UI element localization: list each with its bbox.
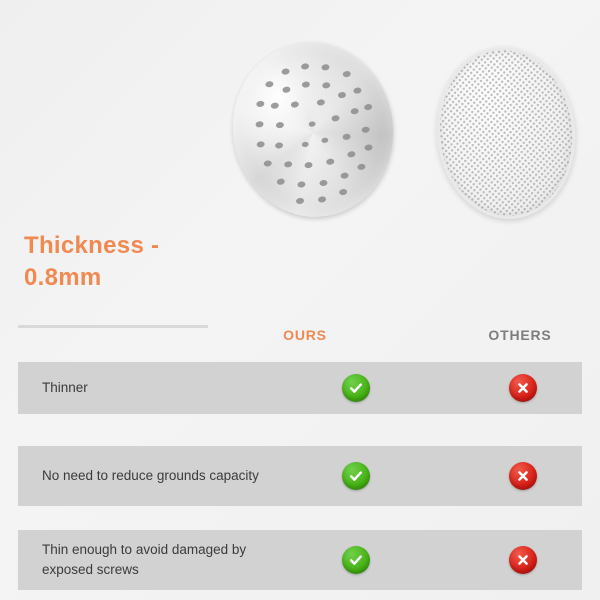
cross-icon [509, 546, 537, 574]
row-label: Thin enough to avoid damaged by exposed … [18, 540, 272, 581]
table-row: No need to reduce grounds capacity [18, 446, 582, 506]
check-icon [342, 374, 370, 402]
headline-line-2: 0.8mm [24, 262, 284, 294]
row-cell-others [439, 374, 600, 402]
table-row: Thin enough to avoid damaged by exposed … [18, 530, 582, 590]
headline-line-1: Thickness - [24, 230, 284, 262]
headline: Thickness - 0.8mm [24, 230, 284, 295]
others-filter-disc-image [428, 40, 583, 225]
check-icon [342, 462, 370, 490]
comparison-infographic: Thickness - 0.8mm OURS OTHERS Thinner No… [0, 0, 600, 600]
row-cell-ours [272, 374, 439, 402]
ours-filter-disc-image [220, 31, 405, 229]
row-label: Thinner [18, 378, 272, 398]
row-cell-others [439, 462, 600, 490]
column-header-others: OTHERS [455, 327, 585, 343]
check-icon [342, 546, 370, 574]
ours-disc-perforations [220, 31, 405, 229]
product-image-area [0, 0, 600, 250]
row-label: No need to reduce grounds capacity [18, 466, 272, 486]
cross-icon [509, 462, 537, 490]
row-cell-ours [272, 546, 439, 574]
others-disc-rim [428, 40, 583, 225]
cross-icon [509, 374, 537, 402]
header-divider [18, 325, 208, 328]
column-header-ours: OURS [250, 327, 360, 343]
table-row: Thinner [18, 362, 582, 414]
row-cell-others [439, 546, 600, 574]
row-cell-ours [272, 462, 439, 490]
